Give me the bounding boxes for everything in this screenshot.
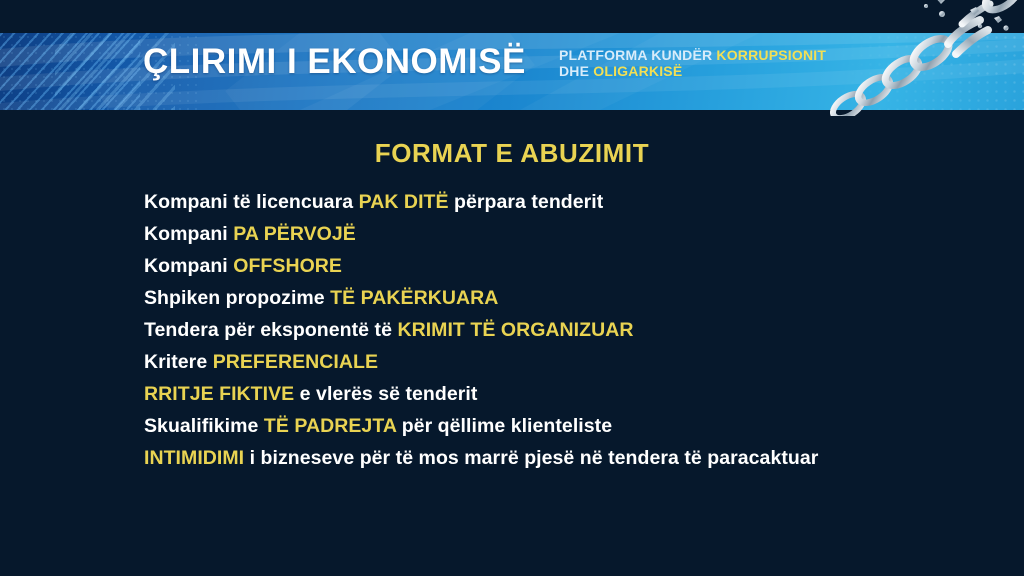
list-item-highlight: TË PAKËRKUARA: [330, 287, 498, 309]
list-item-highlight: KRIMIT TË ORGANIZUAR: [397, 319, 633, 341]
list-item-highlight: TË PADREJTA: [264, 415, 396, 437]
list-item: Skualifikime TË PADREJTA për qëllime kli…: [144, 410, 1004, 442]
list-item: INTIMIDIMI i bizneseve për të mos marrë …: [144, 442, 1004, 474]
list-item: Kritere PREFERENCIALE: [144, 346, 1004, 378]
list-item-text: Kompani: [144, 223, 233, 245]
list-item-highlight: RRITJE FIKTIVE: [144, 383, 294, 405]
list-item: Tendera për eksponentë të KRIMIT TË ORGA…: [144, 314, 1004, 346]
banner-dot-pattern-right: [794, 33, 1024, 110]
list-item-text: Tendera për eksponentë të: [144, 319, 397, 341]
list-item-text: Shpiken propozime: [144, 287, 330, 309]
presentation-slide: ÇLIRIMI I EKONOMISË PLATFORMA KUNDËR KOR…: [0, 0, 1024, 576]
list-item-highlight: PA PËRVOJË: [233, 223, 356, 245]
list-item: Kompani PA PËRVOJË: [144, 218, 1004, 250]
list-item-highlight: OFFSHORE: [233, 255, 342, 277]
list-item: Kompani OFFSHORE: [144, 250, 1004, 282]
list-item: Kompani të licencuara PAK DITË përpara t…: [144, 186, 1004, 218]
list-item: Shpiken propozime TË PAKËRKUARA: [144, 282, 1004, 314]
banner-subtitle-line-1-plain: PLATFORMA KUNDËR: [559, 47, 716, 63]
banner-subtitle-line-2-highlight: OLIGARKISË: [593, 63, 682, 79]
banner-subtitle-line-2: DHE OLIGARKISË: [559, 63, 826, 79]
list-item-highlight: PREFERENCIALE: [213, 351, 378, 373]
banner-subtitle-line-1-highlight: KORRUPSIONIT: [716, 47, 826, 63]
list-item-text: Kompani: [144, 255, 233, 277]
list-item-text-tail: përpara tenderit: [449, 191, 604, 213]
banner-subtitle: PLATFORMA KUNDËR KORRUPSIONIT DHE OLIGAR…: [559, 47, 826, 79]
list-item-text: Kompani të licencuara: [144, 191, 359, 213]
list-item-text: Skualifikime: [144, 415, 264, 437]
list-item-highlight: INTIMIDIMI: [144, 447, 244, 469]
banner-subtitle-line-2-plain: DHE: [559, 63, 593, 79]
list-item-text-tail: e vlerës së tenderit: [294, 383, 477, 405]
list-item-text-tail: i bizneseve për të mos marrë pjesë në te…: [244, 447, 818, 469]
banner-title: ÇLIRIMI I EKONOMISË: [143, 42, 526, 82]
list-item-text-tail: për qëllime klienteliste: [396, 415, 612, 437]
list-item: RRITJE FIKTIVE e vlerës së tenderit: [144, 378, 1004, 410]
list-item-text: Kritere: [144, 351, 213, 373]
slide-heading: FORMAT E ABUZIMIT: [0, 138, 1024, 169]
abuse-forms-list: Kompani të licencuara PAK DITË përpara t…: [144, 186, 1004, 474]
banner-subtitle-line-1: PLATFORMA KUNDËR KORRUPSIONIT: [559, 47, 826, 63]
list-item-highlight: PAK DITË: [359, 191, 449, 213]
